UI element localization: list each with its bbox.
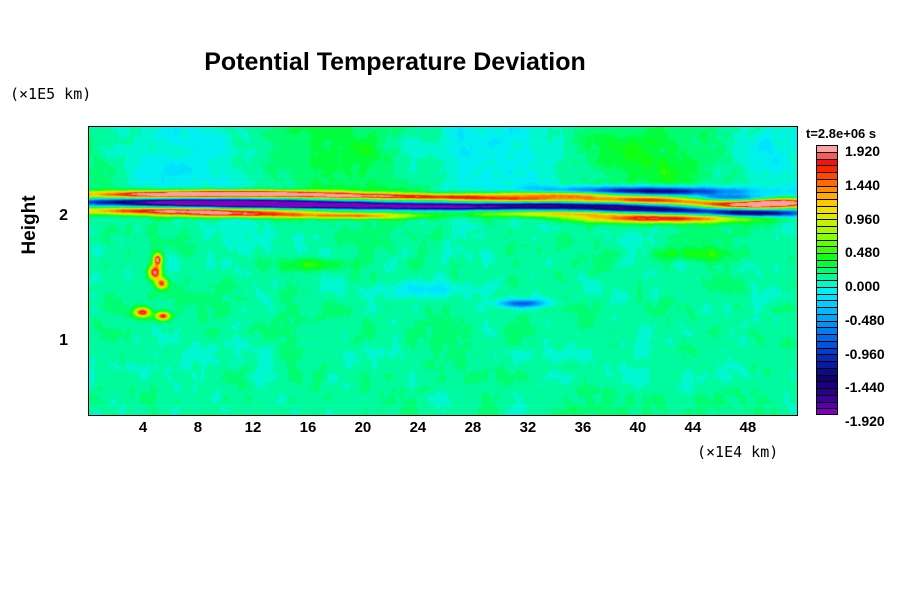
colorbar-band bbox=[817, 288, 837, 295]
colorbar-band bbox=[817, 254, 837, 261]
colorbar-band bbox=[817, 214, 837, 221]
colorbar-band bbox=[817, 268, 837, 275]
x-axis-tick-label: 36 bbox=[575, 419, 592, 436]
colorbar-band bbox=[817, 207, 837, 214]
x-axis-tick-label: 40 bbox=[630, 419, 647, 436]
colorbar-band bbox=[817, 227, 837, 234]
x-axis-tick-label: 20 bbox=[355, 419, 372, 436]
colorbar-band bbox=[817, 173, 837, 180]
colorbar-band bbox=[817, 362, 837, 369]
simulation-time-label: t=2.8e+06 s bbox=[806, 126, 876, 141]
x-axis-tick-label: 4 bbox=[139, 419, 147, 436]
colorbar-band bbox=[817, 335, 837, 342]
x-axis-tick-label: 8 bbox=[194, 419, 202, 436]
colorbar-tick-label: 1.920 bbox=[845, 143, 880, 159]
colorbar-band bbox=[817, 146, 837, 153]
colorbar-band bbox=[817, 376, 837, 383]
colorbar-band bbox=[817, 301, 837, 308]
temperature-deviation-field bbox=[89, 127, 797, 415]
colorbar-tick-label: 0.960 bbox=[845, 211, 880, 227]
colorbar-band bbox=[817, 315, 837, 322]
colorbar-band bbox=[817, 281, 837, 288]
colorbar-gradient-strip bbox=[816, 145, 838, 415]
colorbar-tick-label: 0.480 bbox=[845, 244, 880, 260]
colorbar-tick-label: -0.960 bbox=[845, 346, 885, 362]
y-axis-unit-caption: (×1E5 km) bbox=[10, 85, 91, 103]
colorbar-band bbox=[817, 409, 837, 415]
colorbar-tick-label: 0.000 bbox=[845, 278, 880, 294]
colorbar-band bbox=[817, 153, 837, 160]
colorbar-band bbox=[817, 295, 837, 302]
y-axis-title: Height bbox=[19, 195, 41, 254]
colorbar-tick-label: 1.440 bbox=[845, 177, 880, 193]
colorbar-band bbox=[817, 328, 837, 335]
x-axis-tick-label: 16 bbox=[300, 419, 317, 436]
colorbar-band bbox=[817, 187, 837, 194]
y-axis-tick-label: 2 bbox=[59, 207, 68, 225]
colorbar-band bbox=[817, 342, 837, 349]
colorbar-band bbox=[817, 247, 837, 254]
colorbar-tick-label: -1.920 bbox=[845, 413, 885, 429]
colorbar-band bbox=[817, 369, 837, 376]
x-axis-tick-label: 32 bbox=[520, 419, 537, 436]
colorbar-band bbox=[817, 389, 837, 396]
figure-root: Potential Temperature Deviation (×1E5 km… bbox=[0, 0, 900, 600]
colorbar-band bbox=[817, 349, 837, 356]
colorbar-band bbox=[817, 403, 837, 410]
colorbar-tick-label: -0.480 bbox=[845, 312, 885, 328]
colorbar-band bbox=[817, 193, 837, 200]
colorbar-band bbox=[817, 180, 837, 187]
x-axis-tick-label: 12 bbox=[245, 419, 262, 436]
page-title: Potential Temperature Deviation bbox=[0, 48, 790, 77]
colorbar-band bbox=[817, 234, 837, 241]
x-axis-tick-label: 48 bbox=[740, 419, 757, 436]
x-axis-tick-label: 44 bbox=[685, 419, 702, 436]
colorbar-band bbox=[817, 396, 837, 403]
colorbar-band bbox=[817, 241, 837, 248]
colorbar-tick-label: -1.440 bbox=[845, 379, 885, 395]
colorbar-band bbox=[817, 322, 837, 329]
colorbar-band bbox=[817, 261, 837, 268]
colorbar-band bbox=[817, 160, 837, 167]
x-axis-tick-label: 24 bbox=[410, 419, 427, 436]
x-axis-tick-label: 28 bbox=[465, 419, 482, 436]
colorbar-band bbox=[817, 166, 837, 173]
colorbar-band bbox=[817, 355, 837, 362]
colorbar-band bbox=[817, 308, 837, 315]
y-axis-tick-label: 1 bbox=[59, 332, 68, 350]
x-axis-unit-caption: (×1E4 km) bbox=[697, 443, 778, 461]
colorbar-band bbox=[817, 220, 837, 227]
colorbar-band bbox=[817, 382, 837, 389]
colorbar-band bbox=[817, 200, 837, 207]
contour-plot-area bbox=[88, 126, 798, 416]
colorbar-band bbox=[817, 274, 837, 281]
